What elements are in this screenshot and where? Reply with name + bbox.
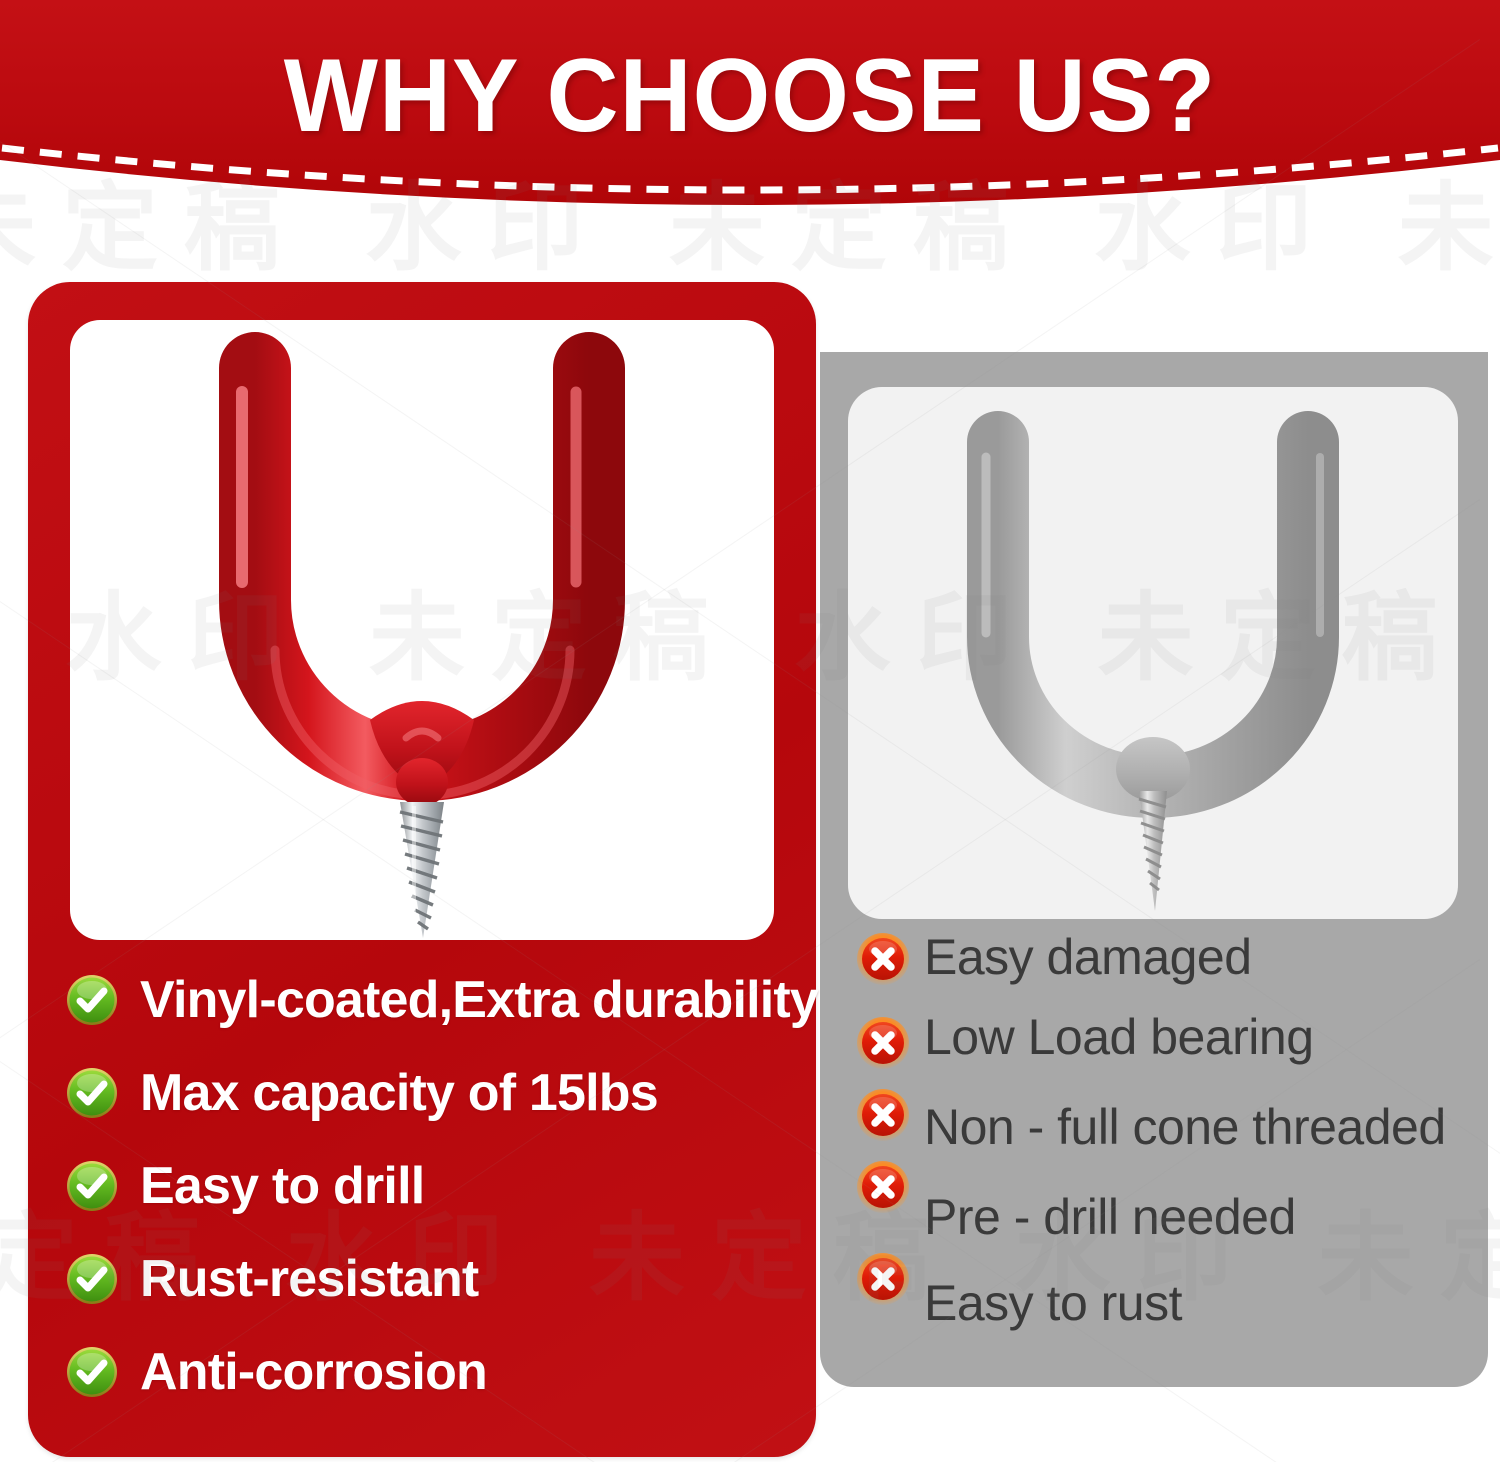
our-product-list: Vinyl-coated,Extra durability Max capaci… (28, 972, 816, 1442)
list-item: Vinyl-coated,Extra durability (66, 972, 818, 1028)
list-item-label: Max capacity of 15lbs (140, 1065, 658, 1121)
list-item: Max capacity of 15lbs (66, 1065, 658, 1121)
list-item: Non - full cone threaded (924, 1100, 1446, 1154)
check-circle-icon (66, 1346, 118, 1398)
competitor-image-card (848, 387, 1458, 919)
list-item: Low Load bearing (924, 1010, 1314, 1064)
our-product-image-card (70, 320, 774, 940)
cross-circle-icon (856, 932, 910, 986)
list-item: Pre - drill needed (924, 1190, 1296, 1244)
list-item: Easy to drill (66, 1158, 424, 1214)
header-banner: WHY CHOOSE US? (0, 0, 1500, 240)
list-item: Easy damaged (924, 930, 1252, 984)
list-item: Anti-corrosion (66, 1344, 487, 1400)
cross-circle-icon (856, 1160, 910, 1214)
cross-circle-icon (856, 1252, 910, 1306)
cross-circle-icon (856, 1088, 910, 1142)
list-item-label: Rust-resistant (140, 1251, 478, 1307)
list-item: Easy to rust (924, 1276, 1182, 1330)
competitor-icon-column (856, 932, 916, 1372)
competitor-text-column: Easy damaged Low Load bearing Non - full… (924, 932, 1484, 1372)
check-circle-icon (66, 1253, 118, 1305)
red-u-hook-image (70, 320, 774, 940)
competitor-panel: Easy damaged Low Load bearing Non - full… (820, 352, 1488, 1387)
list-item: Rust-resistant (66, 1251, 478, 1307)
list-item-label: Anti-corrosion (140, 1344, 487, 1400)
check-circle-icon (66, 1067, 118, 1119)
check-circle-icon (66, 974, 118, 1026)
list-item-label: Easy to drill (140, 1158, 424, 1214)
competitor-list: Easy damaged Low Load bearing Non - full… (820, 932, 1488, 1372)
cross-circle-icon (856, 1016, 910, 1070)
page-title: WHY CHOOSE US? (30, 44, 1470, 148)
infographic-page: WHY CHOOSE US? (0, 0, 1500, 1462)
list-item-label: Vinyl-coated,Extra durability (140, 972, 818, 1028)
gray-u-hook-image (848, 387, 1458, 919)
check-circle-icon (66, 1160, 118, 1212)
our-product-panel: Vinyl-coated,Extra durability Max capaci… (28, 282, 816, 1457)
